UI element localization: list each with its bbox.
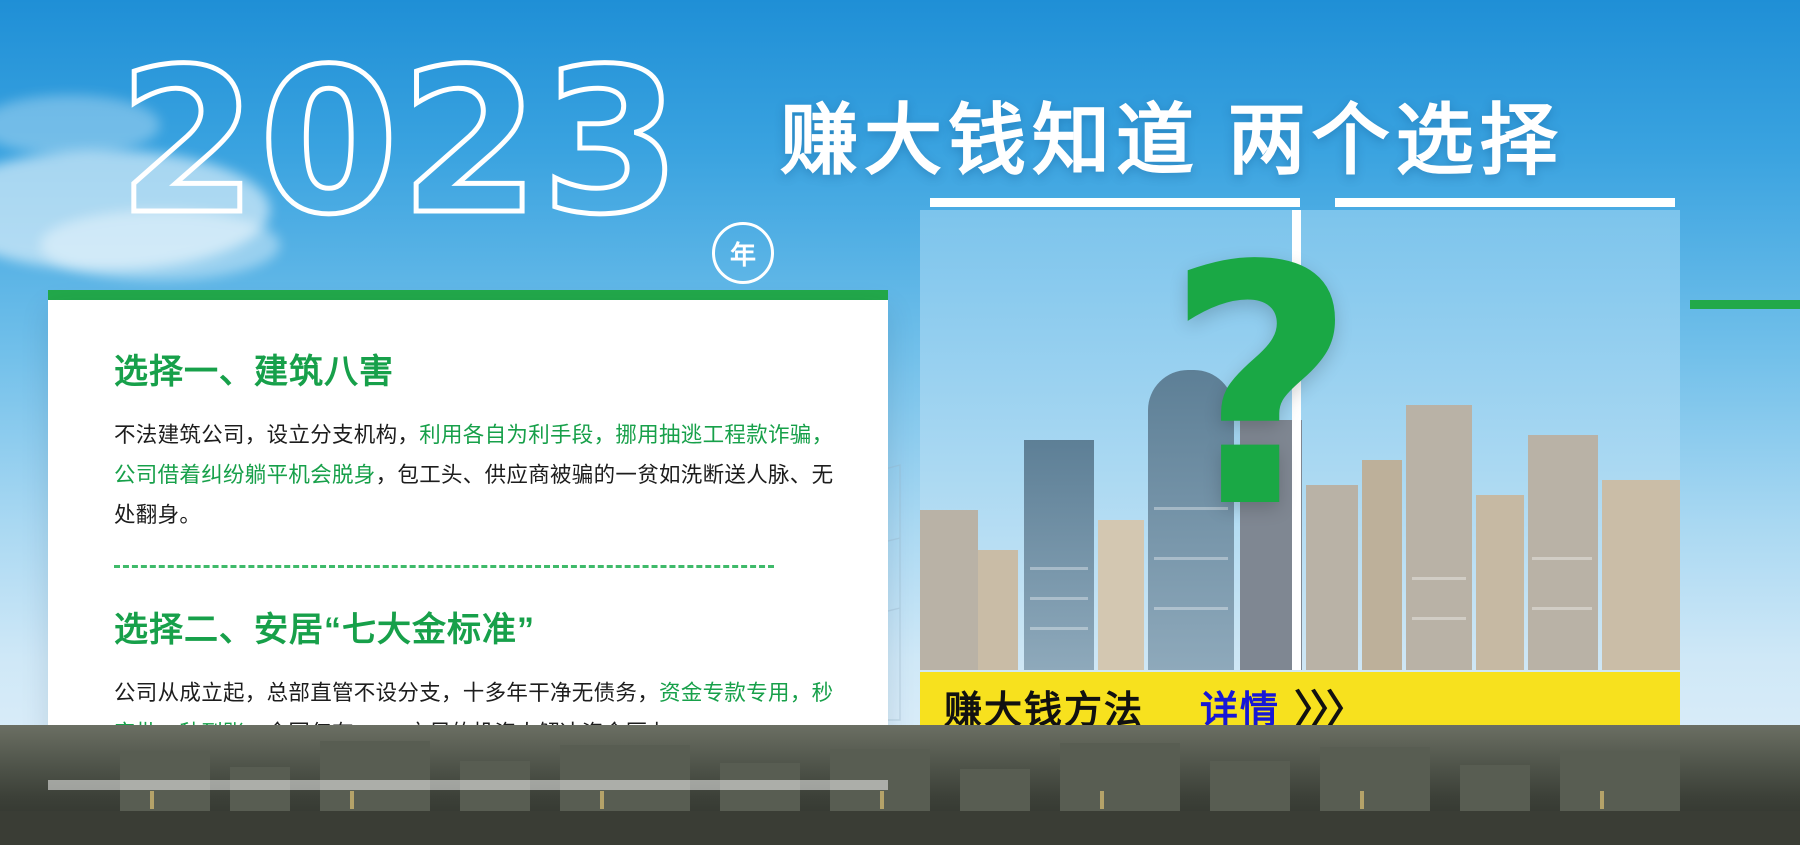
content-card: 选择一、建筑八害 不法建筑公司，设立分支机构，利用各自为利手段，挪用抽逃工程款诈… [48, 300, 888, 780]
card-reflection [48, 780, 888, 790]
section-1-title: 选择一、建筑八害 [114, 344, 836, 393]
section-2-title: 选择二、安居“七大金标准” [114, 602, 836, 651]
question-mark-graphic: ? [1165, 238, 1356, 538]
year-outline-number: 2023 [118, 48, 683, 238]
section-1-text-a: 不法建筑公司，设立分支机构， [114, 423, 419, 447]
green-accent-bar [1690, 300, 1800, 309]
promo-banner: 2023 年 赚大钱知道 两个选择 TWO CHOICES ? [0, 0, 1800, 845]
section-1-body: 不法建筑公司，设立分支机构，利用各自为利手段，挪用抽逃工程款诈骗，公司借着纠纷躺… [114, 415, 836, 535]
headline-rule [1335, 198, 1675, 207]
year-suffix-badge: 年 [712, 222, 774, 284]
section-divider [114, 565, 774, 568]
section-2-text-a: 公司从成立起，总部直管不设分支，十多年干净无债务， [114, 681, 659, 705]
page-title: 赚大钱知道 两个选择 [780, 78, 1564, 190]
